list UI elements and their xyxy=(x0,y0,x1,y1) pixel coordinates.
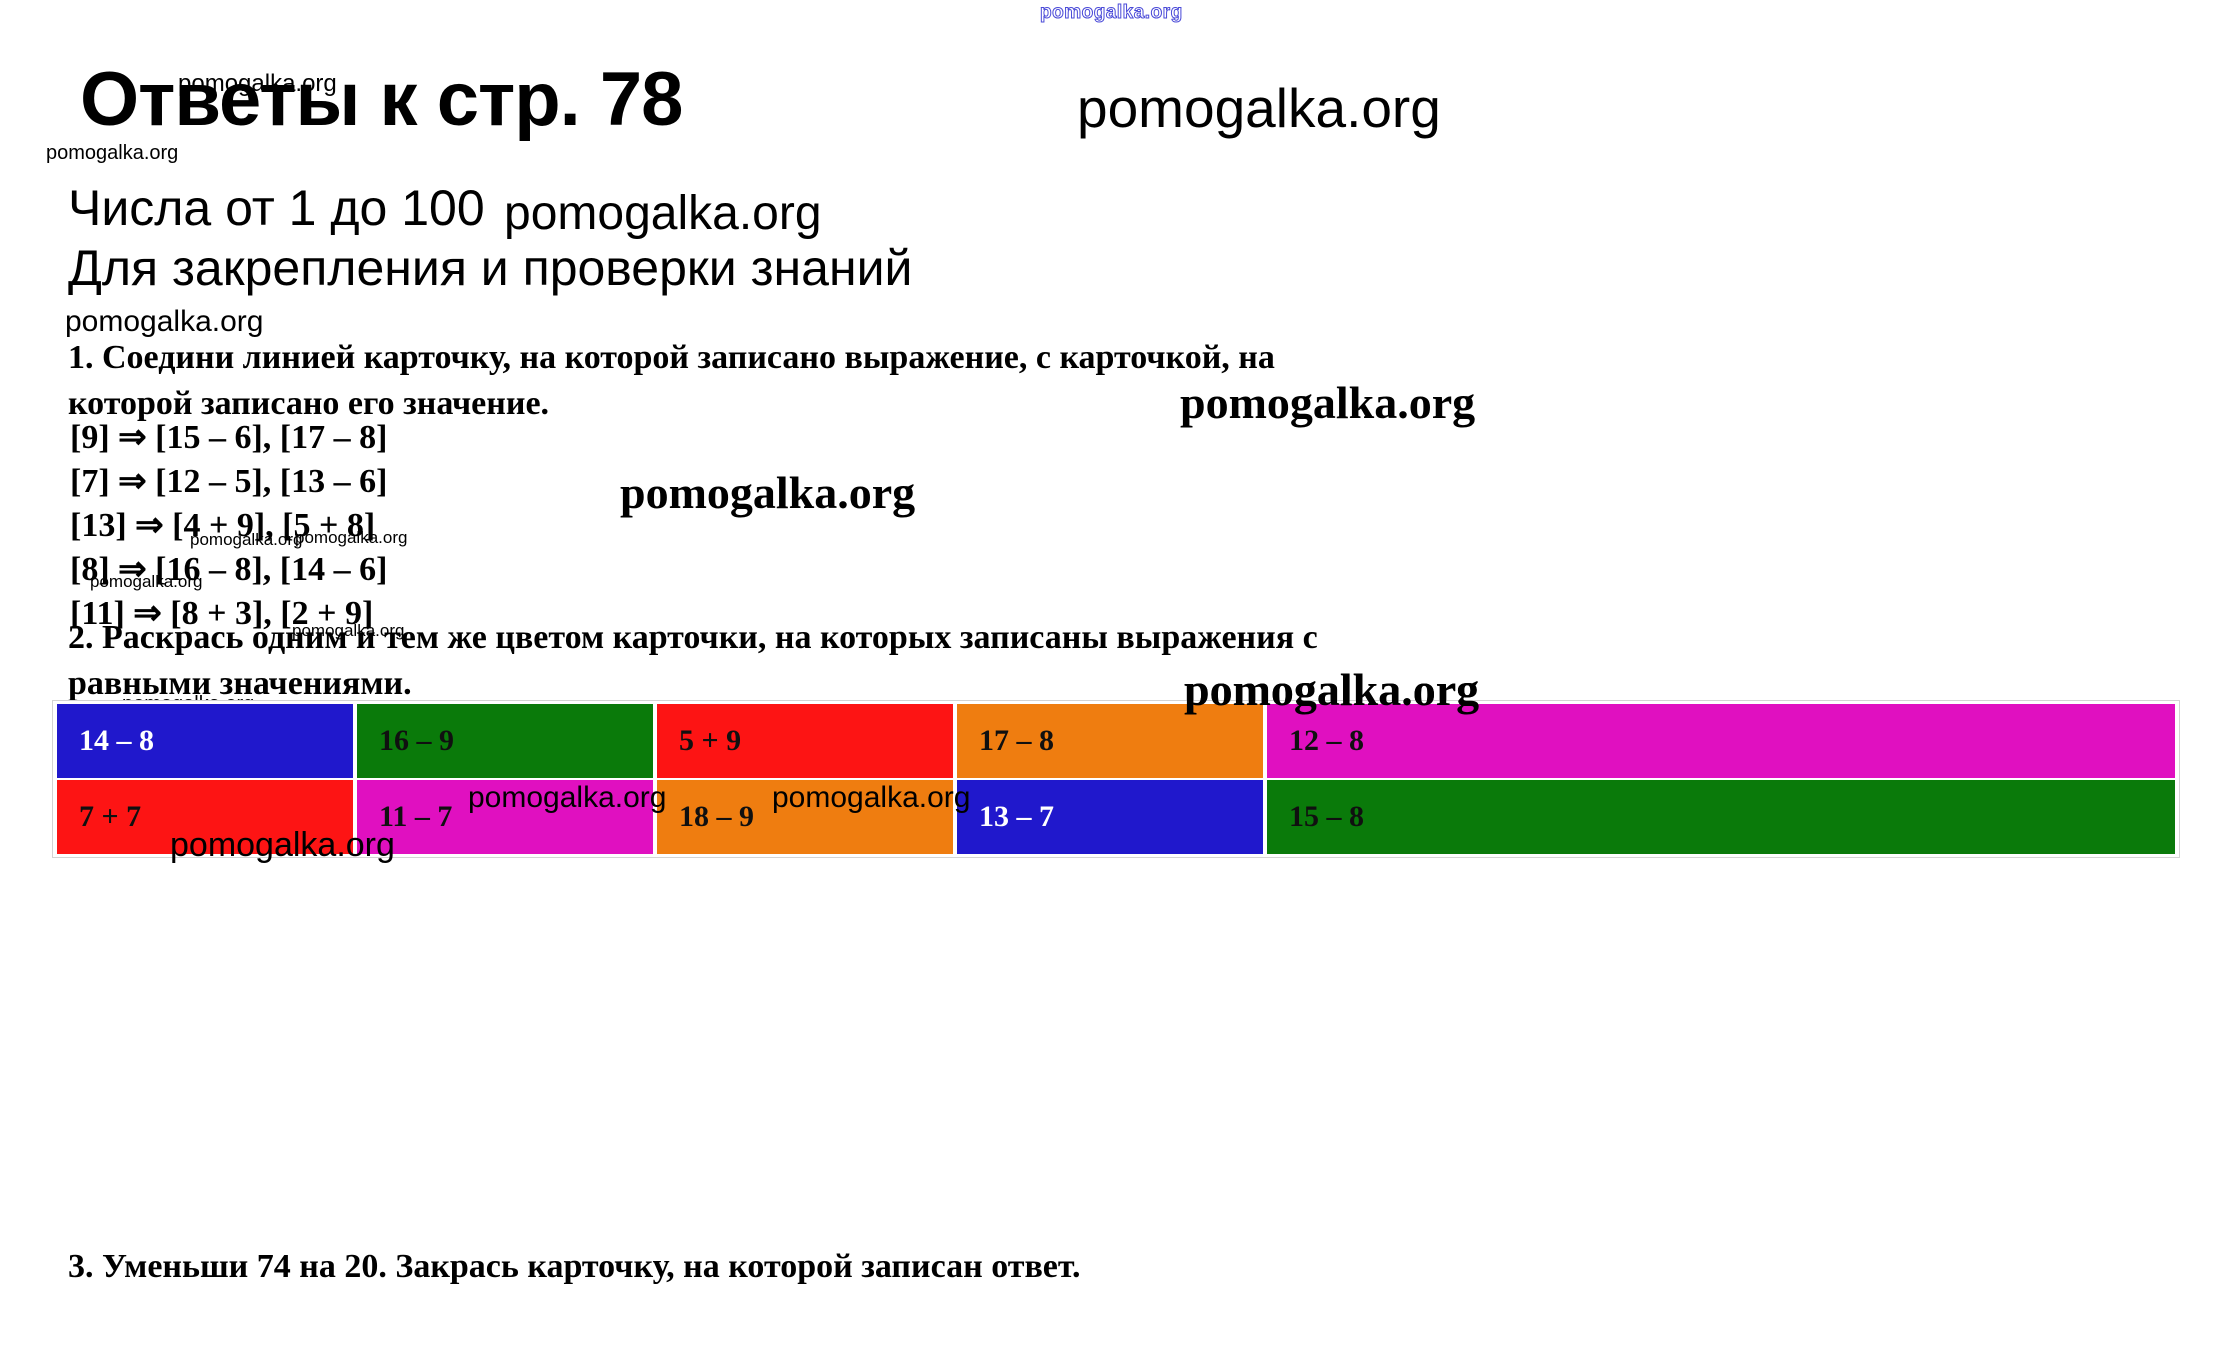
card-14-minus-8[interactable]: 14 – 8 xyxy=(57,704,353,778)
card-18-minus-9[interactable]: 18 – 9 xyxy=(657,780,953,854)
watermark-title-tiny: pomogalka.org xyxy=(46,142,178,165)
card-16-minus-9[interactable]: 16 – 9 xyxy=(357,704,653,778)
page-title: Ответы к стр. 78 xyxy=(80,62,682,138)
list-item: [7] ⇒ [12 – 5], [13 – 6] xyxy=(70,460,387,504)
subhead-practice: Для закрепления и проверки знаний xyxy=(68,243,912,293)
task2-prompt-line1: 2. Раскрась одним и тем же цветом карточ… xyxy=(68,615,1318,661)
card-row-2: 7 + 7 11 – 7 18 – 9 13 – 7 15 – 8 xyxy=(55,779,2177,855)
watermark-task1-above: pomogalka.org xyxy=(65,305,263,339)
watermark-center-1: pomogalka.org xyxy=(620,466,915,519)
task1-prompt: 1. Соедини линией карточку, на которой з… xyxy=(68,335,1275,427)
list-item: [9] ⇒ [15 – 6], [17 – 8] xyxy=(70,416,387,460)
card-7-plus-7[interactable]: 7 + 7 xyxy=(57,780,353,854)
task3-prompt: 3. Уменьши 74 на 20. Закрась карточку, н… xyxy=(68,1244,1081,1290)
task2-prompt: 2. Раскрась одним и тем же цветом карточ… xyxy=(68,615,1318,707)
expression-card-grid: 14 – 8 16 – 9 5 + 9 17 – 8 12 – 8 7 + 7 … xyxy=(52,700,2180,858)
list-item: [13] ⇒ [4 + 9], [5 + 8] xyxy=(70,504,387,548)
task1-prompt-line1: 1. Соедини линией карточку, на которой з… xyxy=(68,335,1275,381)
card-11-minus-7[interactable]: 11 – 7 xyxy=(357,780,653,854)
task3-prompt-line: 3. Уменьши 74 на 20. Закрась карточку, н… xyxy=(68,1244,1081,1290)
card-5-plus-9[interactable]: 5 + 9 xyxy=(657,704,953,778)
card-15-minus-8[interactable]: 15 – 8 xyxy=(1267,780,2175,854)
watermark-header-right: pomogalka.org xyxy=(1077,76,1441,140)
card-13-minus-7[interactable]: 13 – 7 xyxy=(957,780,1263,854)
card-row-1: 14 – 8 16 – 9 5 + 9 17 – 8 12 – 8 xyxy=(55,703,2177,779)
watermark-top-outline: pomogalka.org xyxy=(1040,2,1183,24)
watermark-subhead-inline: pomogalka.org xyxy=(504,186,822,241)
card-17-minus-8[interactable]: 17 – 8 xyxy=(957,704,1263,778)
task1-answer-list: [9] ⇒ [15 – 6], [17 – 8] [7] ⇒ [12 – 5],… xyxy=(70,416,387,636)
list-item: [8] ⇒ [16 – 8], [14 – 6] xyxy=(70,548,387,592)
subhead-numbers: Числа от 1 до 100 xyxy=(68,183,485,233)
card-12-minus-8[interactable]: 12 – 8 xyxy=(1267,704,2175,778)
